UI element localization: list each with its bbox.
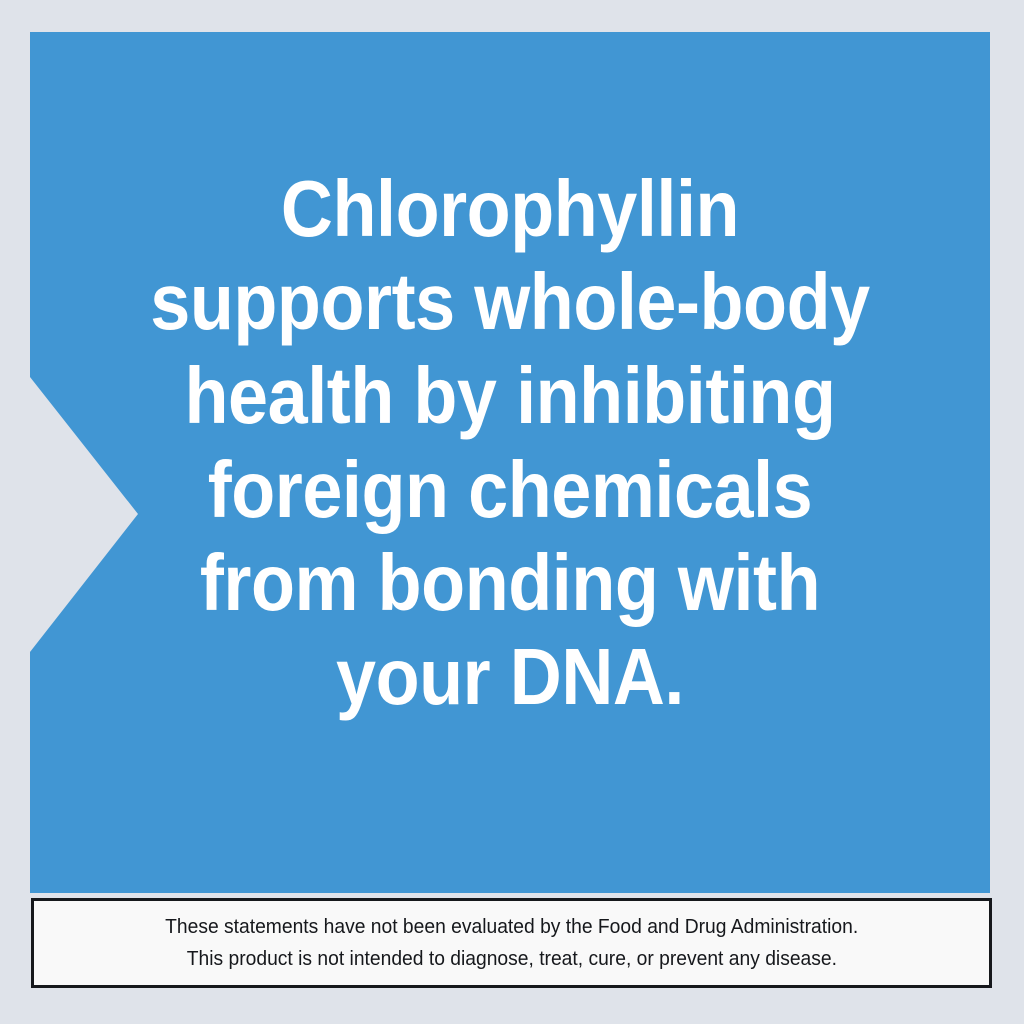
poster-canvas: Chlorophyllin supports whole-body health… — [0, 0, 1024, 1024]
headline-line-2: supports whole-body — [136, 255, 885, 349]
headline-line-3: health by inhibiting — [136, 349, 885, 443]
fda-disclaimer-box: These statements have not been evaluated… — [31, 898, 992, 988]
headline-line-1: Chlorophyllin — [136, 162, 885, 256]
headline-block: Chlorophyllin supports whole-body health… — [30, 32, 990, 893]
disclaimer-line-2: This product is not intended to diagnose… — [186, 943, 836, 975]
headline-text: Chlorophyllin supports whole-body health… — [136, 162, 885, 724]
disclaimer-line-1: These statements have not been evaluated… — [165, 911, 858, 943]
headline-line-6: your DNA. — [136, 630, 885, 724]
headline-line-5: from bonding with — [136, 536, 885, 630]
headline-line-4: foreign chemicals — [136, 443, 885, 537]
